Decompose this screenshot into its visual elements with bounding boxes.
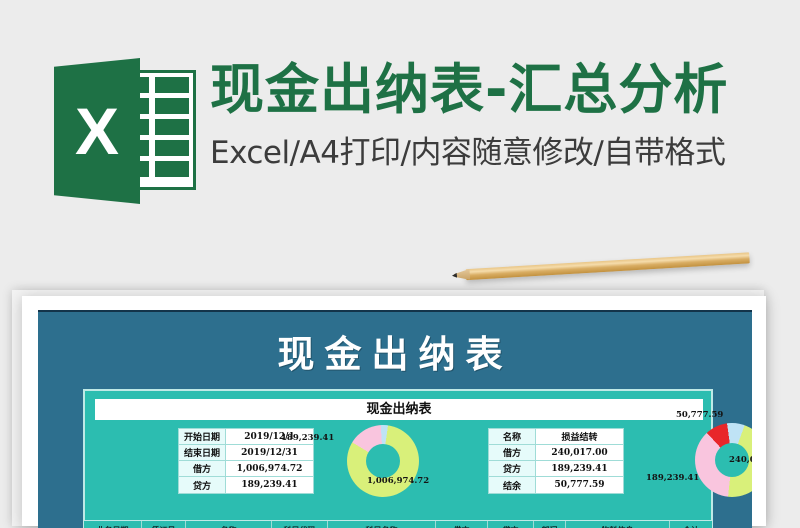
- summary-panel-title: 现金出纳表: [95, 399, 703, 420]
- table-row: 贷方 189,239.41: [489, 461, 623, 477]
- column-header: 凭证号: [142, 521, 186, 528]
- row-value: 189,239.41: [536, 461, 623, 476]
- table-row: 借方 240,017.00: [489, 445, 623, 461]
- summary-table-right: 名称 损益结转 借方 240,017.00 贷方 189,239.41 结余 5…: [488, 428, 624, 494]
- row-key: 贷方: [179, 477, 226, 493]
- table-row: 结余 50,777.59: [489, 477, 623, 493]
- row-key: 开始日期: [179, 429, 226, 444]
- donut-left-label-credit: 189,239.41: [281, 433, 334, 443]
- row-value: 损益结转: [536, 429, 623, 444]
- promo-banner: X 现金出纳表-汇总分析 Excel/A4打印/内容随意修改/自带格式: [0, 0, 800, 262]
- donut-right-label-debit: 240,017.00: [729, 455, 752, 465]
- ledger-table-header: 业务日期 凭证号 名称 科目代码 科目名称 借方 贷方 部门 物料信息 合计: [83, 520, 713, 528]
- spreadsheet-heading: 现金出纳表: [38, 324, 752, 378]
- table-row: 贷方 189,239.41: [179, 477, 313, 493]
- table-row: 借方 1,006,974.72: [179, 461, 313, 477]
- donut-left-label-debit: 1,006,974.72: [367, 476, 429, 486]
- row-key: 结束日期: [179, 445, 226, 460]
- donut-right-label-balance: 50,777.59: [676, 410, 723, 420]
- donut-chart-left: [347, 425, 419, 497]
- summary-panel: 现金出纳表 开始日期 2019/12/1 结束日期 2019/12/31 借方 …: [83, 389, 713, 528]
- column-header: 借方: [436, 521, 488, 528]
- table-row: 结束日期 2019/12/31: [179, 445, 313, 461]
- row-value: 50,777.59: [536, 477, 623, 493]
- row-key: 借方: [179, 461, 226, 476]
- donut-hole: [366, 444, 400, 478]
- excel-logo: X: [48, 58, 200, 204]
- column-header: 科目代码: [272, 521, 328, 528]
- column-header: 物料信息: [566, 521, 670, 528]
- spreadsheet-preview: 现金出纳表 现金出纳表 开始日期 2019/12/1 结束日期 2019/12/…: [38, 310, 752, 528]
- row-key: 贷方: [489, 461, 536, 476]
- column-header: 部门: [534, 521, 566, 528]
- row-key: 名称: [489, 429, 536, 444]
- row-value: 240,017.00: [536, 445, 623, 460]
- row-value: 189,239.41: [226, 477, 313, 493]
- row-key: 借方: [489, 445, 536, 460]
- page-subtitle: Excel/A4打印/内容随意修改/自带格式: [210, 132, 790, 174]
- column-header: 合计: [670, 521, 712, 528]
- column-header: 业务日期: [84, 521, 142, 528]
- row-value: 2019/12/31: [226, 445, 313, 460]
- column-header: 科目名称: [328, 521, 436, 528]
- table-row: 名称 损益结转: [489, 429, 623, 445]
- pencil-tip: [452, 273, 457, 278]
- donut-right-label-credit: 189,239.41: [646, 473, 699, 483]
- page-title: 现金出纳表-汇总分析: [210, 57, 790, 123]
- excel-logo-letter: X: [54, 58, 140, 204]
- row-key: 结余: [489, 477, 536, 493]
- column-header: 名称: [186, 521, 272, 528]
- column-header: 贷方: [488, 521, 534, 528]
- row-value: 1,006,974.72: [226, 461, 313, 476]
